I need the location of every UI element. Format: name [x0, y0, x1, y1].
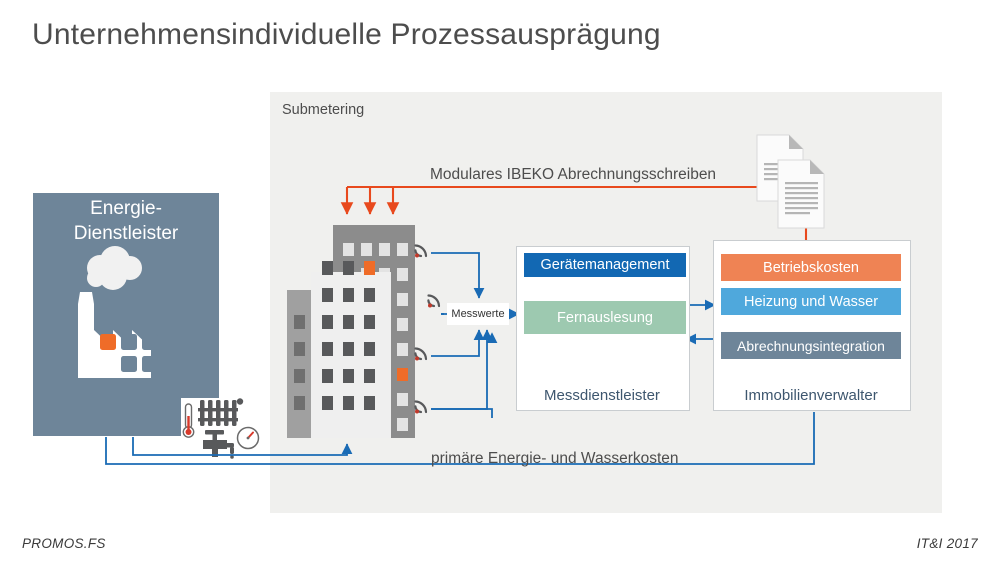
primary-costs-label: primäre Energie- und Wasserkosten — [431, 450, 679, 468]
page-title: Unternehmensindividuelle Prozessausprägu… — [32, 18, 661, 52]
footer-right: IT&I 2017 — [917, 536, 978, 551]
submetering-label: Submetering — [282, 102, 364, 118]
gauge-icon — [238, 428, 259, 449]
messwerte-label: Messwerte — [447, 303, 509, 325]
bar-geraetemanagement[interactable]: Gerätemanagement — [524, 253, 686, 277]
energie-dienstleister-line2: Dienstleister — [33, 221, 219, 246]
ibeko-flow-label: Modulares IBEKO Abrechnungsschreiben — [430, 166, 716, 184]
energie-dienstleister-title: Energie- Dienstleister — [33, 196, 219, 246]
bar-betriebskosten[interactable]: Betriebskosten — [721, 254, 901, 281]
bar-abrechnungsintegration[interactable]: Abrechnungsintegration — [721, 332, 901, 359]
slide-canvas: Unternehmensindividuelle Prozessausprägu… — [0, 0, 1000, 563]
footer-left: PROMOS.FS — [22, 536, 106, 551]
bar-fernauslesung[interactable]: Fernauslesung — [524, 301, 686, 334]
energie-dienstleister-line1: Energie- — [33, 196, 219, 221]
bar-heizung-und-wasser[interactable]: Heizung und Wasser — [721, 288, 901, 315]
messdienstleister-caption: Messdienstleister — [516, 387, 688, 404]
immobilienverwalter-caption: Immobilienverwalter — [713, 387, 909, 404]
